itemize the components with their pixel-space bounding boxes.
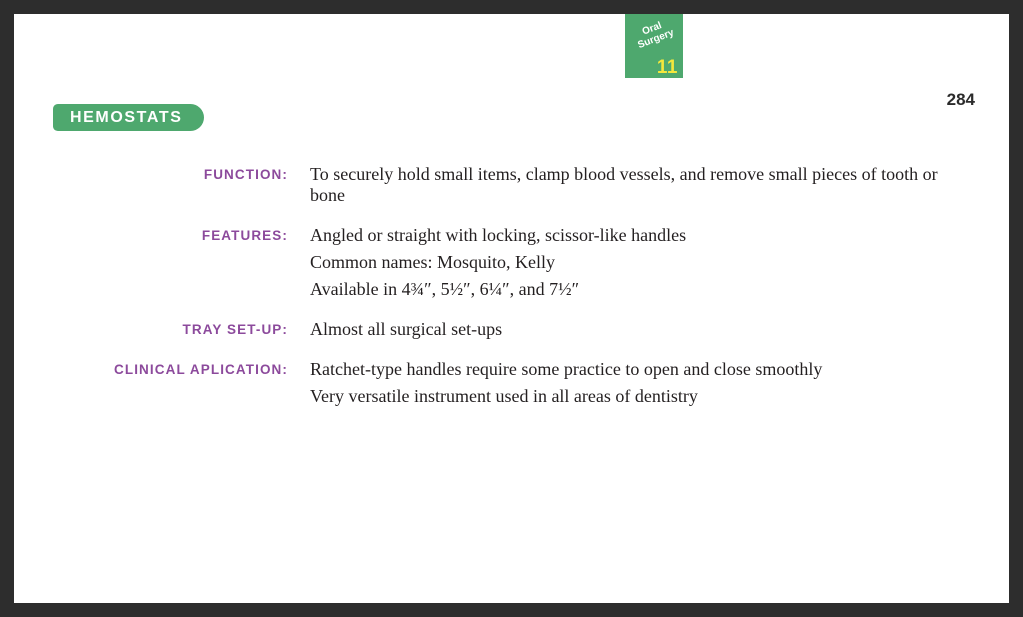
spec-value-line: Very versatile instrument used in all ar…: [310, 386, 981, 407]
page-sheet: Oral Surgery 11 284 HEMOSTATS FUNCTION: …: [14, 14, 1009, 603]
spec-value-line: To securely hold small items, clamp bloo…: [310, 164, 955, 206]
spec-row-clinical-application: CLINICAL APLICATION: Ratchet-type handle…: [14, 359, 1009, 407]
spec-value-line: Ratchet-type handles require some practi…: [310, 359, 981, 380]
spec-label-function: FUNCTION:: [14, 164, 310, 182]
spec-value-line: Common names: Mosquito, Kelly: [310, 252, 981, 273]
page-number: 284: [947, 90, 975, 110]
spec-label-tray-set-up: TRAY SET-UP:: [14, 319, 310, 337]
chapter-thumb-tab: Oral Surgery 11: [625, 14, 683, 78]
spec-values-clinical-application: Ratchet-type handles require some practi…: [310, 359, 1009, 407]
spec-values-tray-set-up: Almost all surgical set-ups: [310, 319, 1009, 340]
spec-values-features: Angled or straight with locking, scissor…: [310, 225, 1009, 300]
spec-row-tray-set-up: TRAY SET-UP: Almost all surgical set-ups: [14, 319, 1009, 340]
chapter-tab-number: 11: [657, 58, 678, 77]
page-frame: Oral Surgery 11 284 HEMOSTATS FUNCTION: …: [0, 0, 1023, 617]
page-title: HEMOSTATS: [70, 109, 182, 127]
spec-values-function: To securely hold small items, clamp bloo…: [310, 164, 1009, 206]
spec-row-function: FUNCTION: To securely hold small items, …: [14, 164, 1009, 206]
spec-row-features: FEATURES: Angled or straight with lockin…: [14, 225, 1009, 300]
spec-value-line: Angled or straight with locking, scissor…: [310, 225, 981, 246]
spec-label-clinical-application: CLINICAL APLICATION:: [14, 359, 310, 377]
spec-value-line: Almost all surgical set-ups: [310, 319, 981, 340]
section-title-badge: HEMOSTATS: [53, 104, 204, 131]
spec-value-line: Available in 4¾″, 5½″, 6¼″, and 7½″: [310, 279, 981, 300]
chapter-tab-title: Oral Surgery: [626, 14, 682, 53]
specification-list: FUNCTION: To securely hold small items, …: [14, 164, 1009, 426]
spec-label-features: FEATURES:: [14, 225, 310, 243]
